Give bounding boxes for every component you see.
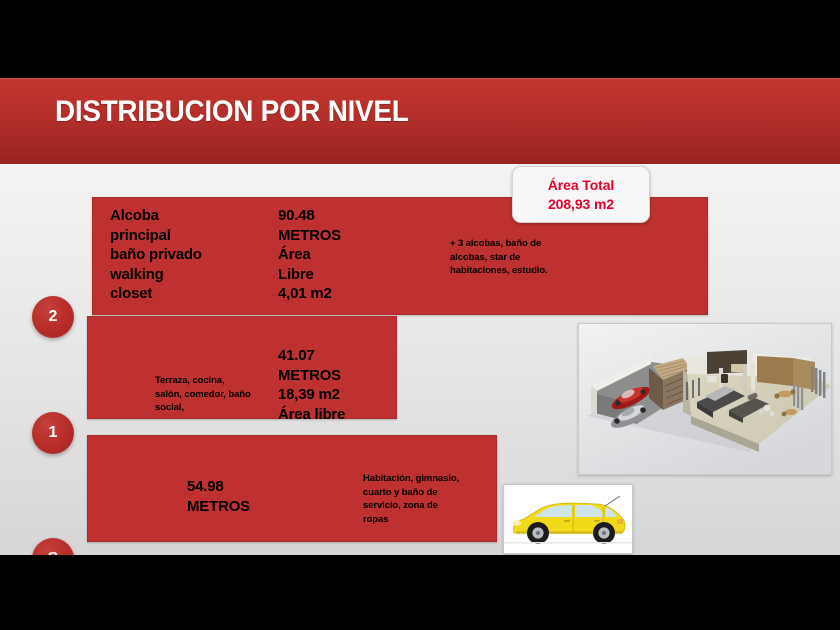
floorplan-render-image: [578, 323, 832, 475]
level-badge-1-label: 1: [49, 424, 58, 442]
level-s-metrics: 54.98 METROS: [187, 477, 317, 516]
level-2-note: + 3 alcobas, baño de alcobas, star de ha…: [450, 237, 590, 278]
level-badge-1: 1: [32, 412, 74, 454]
car-photo-image: [503, 484, 633, 554]
area-total-label: Área Total: [548, 176, 614, 195]
area-total-value: 208,93 m2: [548, 195, 614, 214]
area-total-badge: Área Total 208,93 m2: [512, 166, 650, 223]
level-2-rooms: Alcoba principal baño privado walking cl…: [110, 206, 280, 304]
level-1-metrics: 41.07 METROS 18,39 m2 Área libre: [278, 346, 403, 424]
page-title: DISTRIBUCION POR NIVEL: [55, 95, 408, 129]
level-badge-2-label: 2: [49, 308, 58, 326]
header-band: DISTRIBUCION POR NIVEL: [0, 78, 840, 164]
level-s-rooms: Habitación, gimnasio, cuarto y baño de s…: [363, 472, 493, 526]
level-1-rooms: Terraza, cocina, salón, comedor, baño so…: [155, 374, 280, 415]
level-2-metrics: 90.48 METROS Área Libre 4,01 m2: [278, 206, 418, 304]
level-badge-s-label: S: [48, 550, 59, 555]
slide-canvas: DISTRIBUCION POR NIVEL Área Total 208,93…: [0, 78, 840, 555]
level-badge-s: S: [32, 538, 74, 555]
level-badge-2: 2: [32, 296, 74, 338]
slide-frame: DISTRIBUCION POR NIVEL Área Total 208,93…: [0, 0, 840, 630]
